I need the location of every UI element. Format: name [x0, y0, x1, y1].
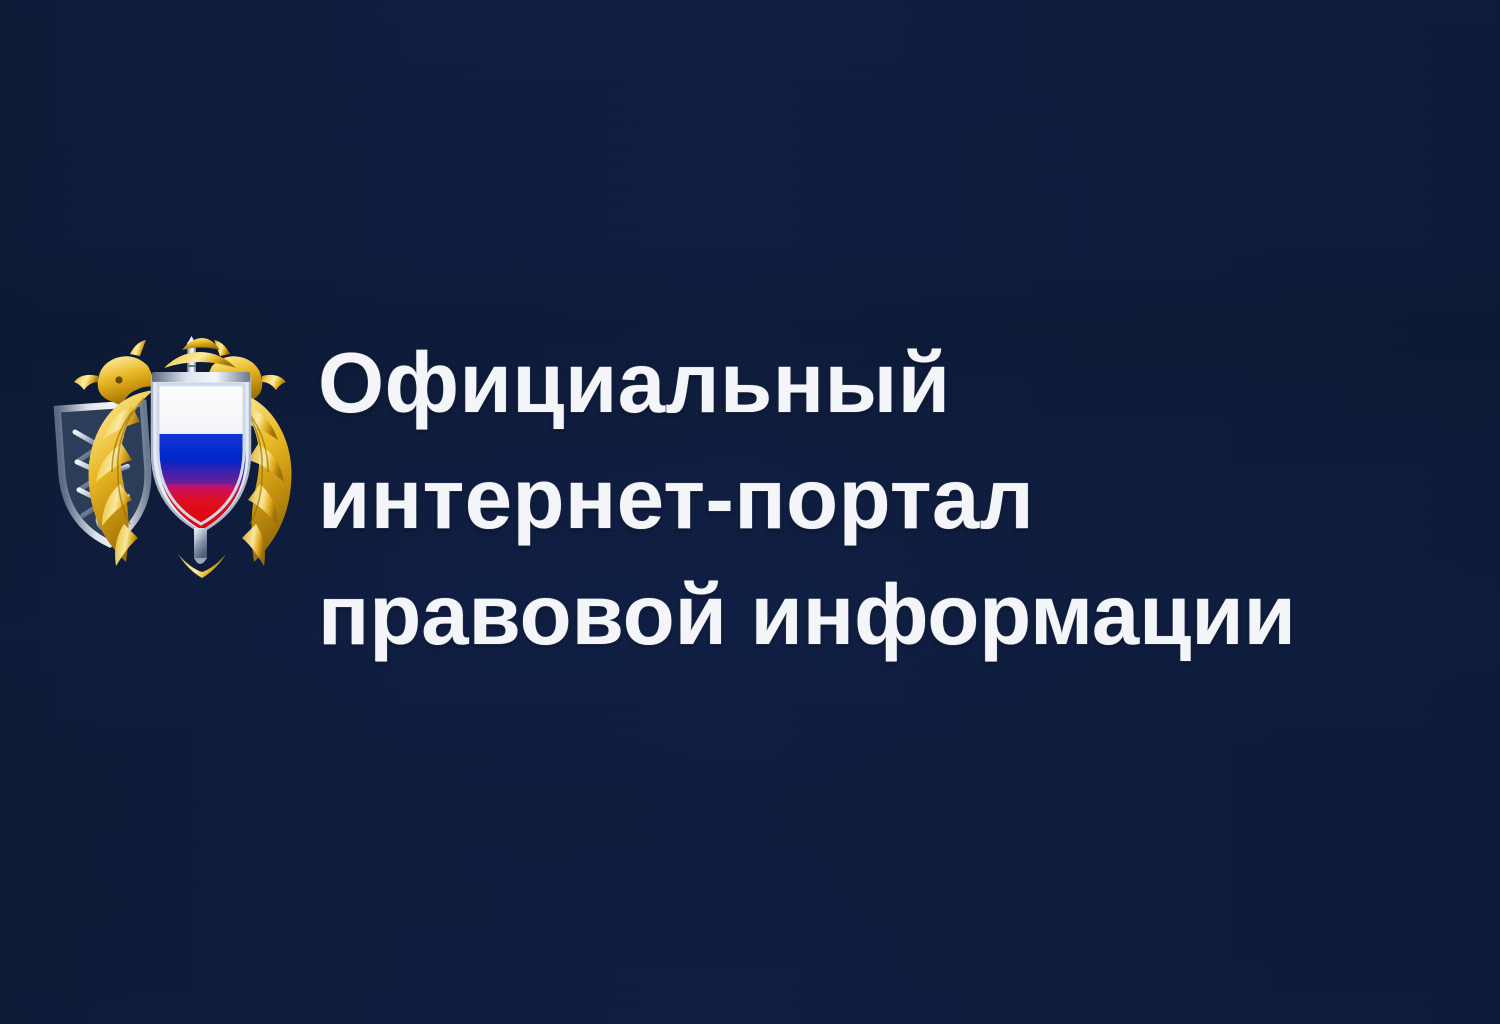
banner-content: Официальный интернет-портал правовой инф… [0, 0, 1500, 1024]
russian-tricolor-shield [152, 372, 254, 546]
title-line-2: интернет-портал [318, 442, 1500, 558]
banner-title: Официальный интернет-портал правовой инф… [318, 326, 1500, 674]
emblem-svg [12, 332, 308, 618]
banner-root: Официальный интернет-портал правовой инф… [0, 0, 1500, 1024]
title-line-3: правовой информации [318, 558, 1500, 674]
title-line-1: Официальный [318, 326, 1500, 442]
sword-blade-lower [194, 528, 207, 564]
double-headed-eagle-emblem [12, 332, 308, 618]
blue-stripe [152, 434, 254, 485]
white-stripe [152, 381, 254, 434]
